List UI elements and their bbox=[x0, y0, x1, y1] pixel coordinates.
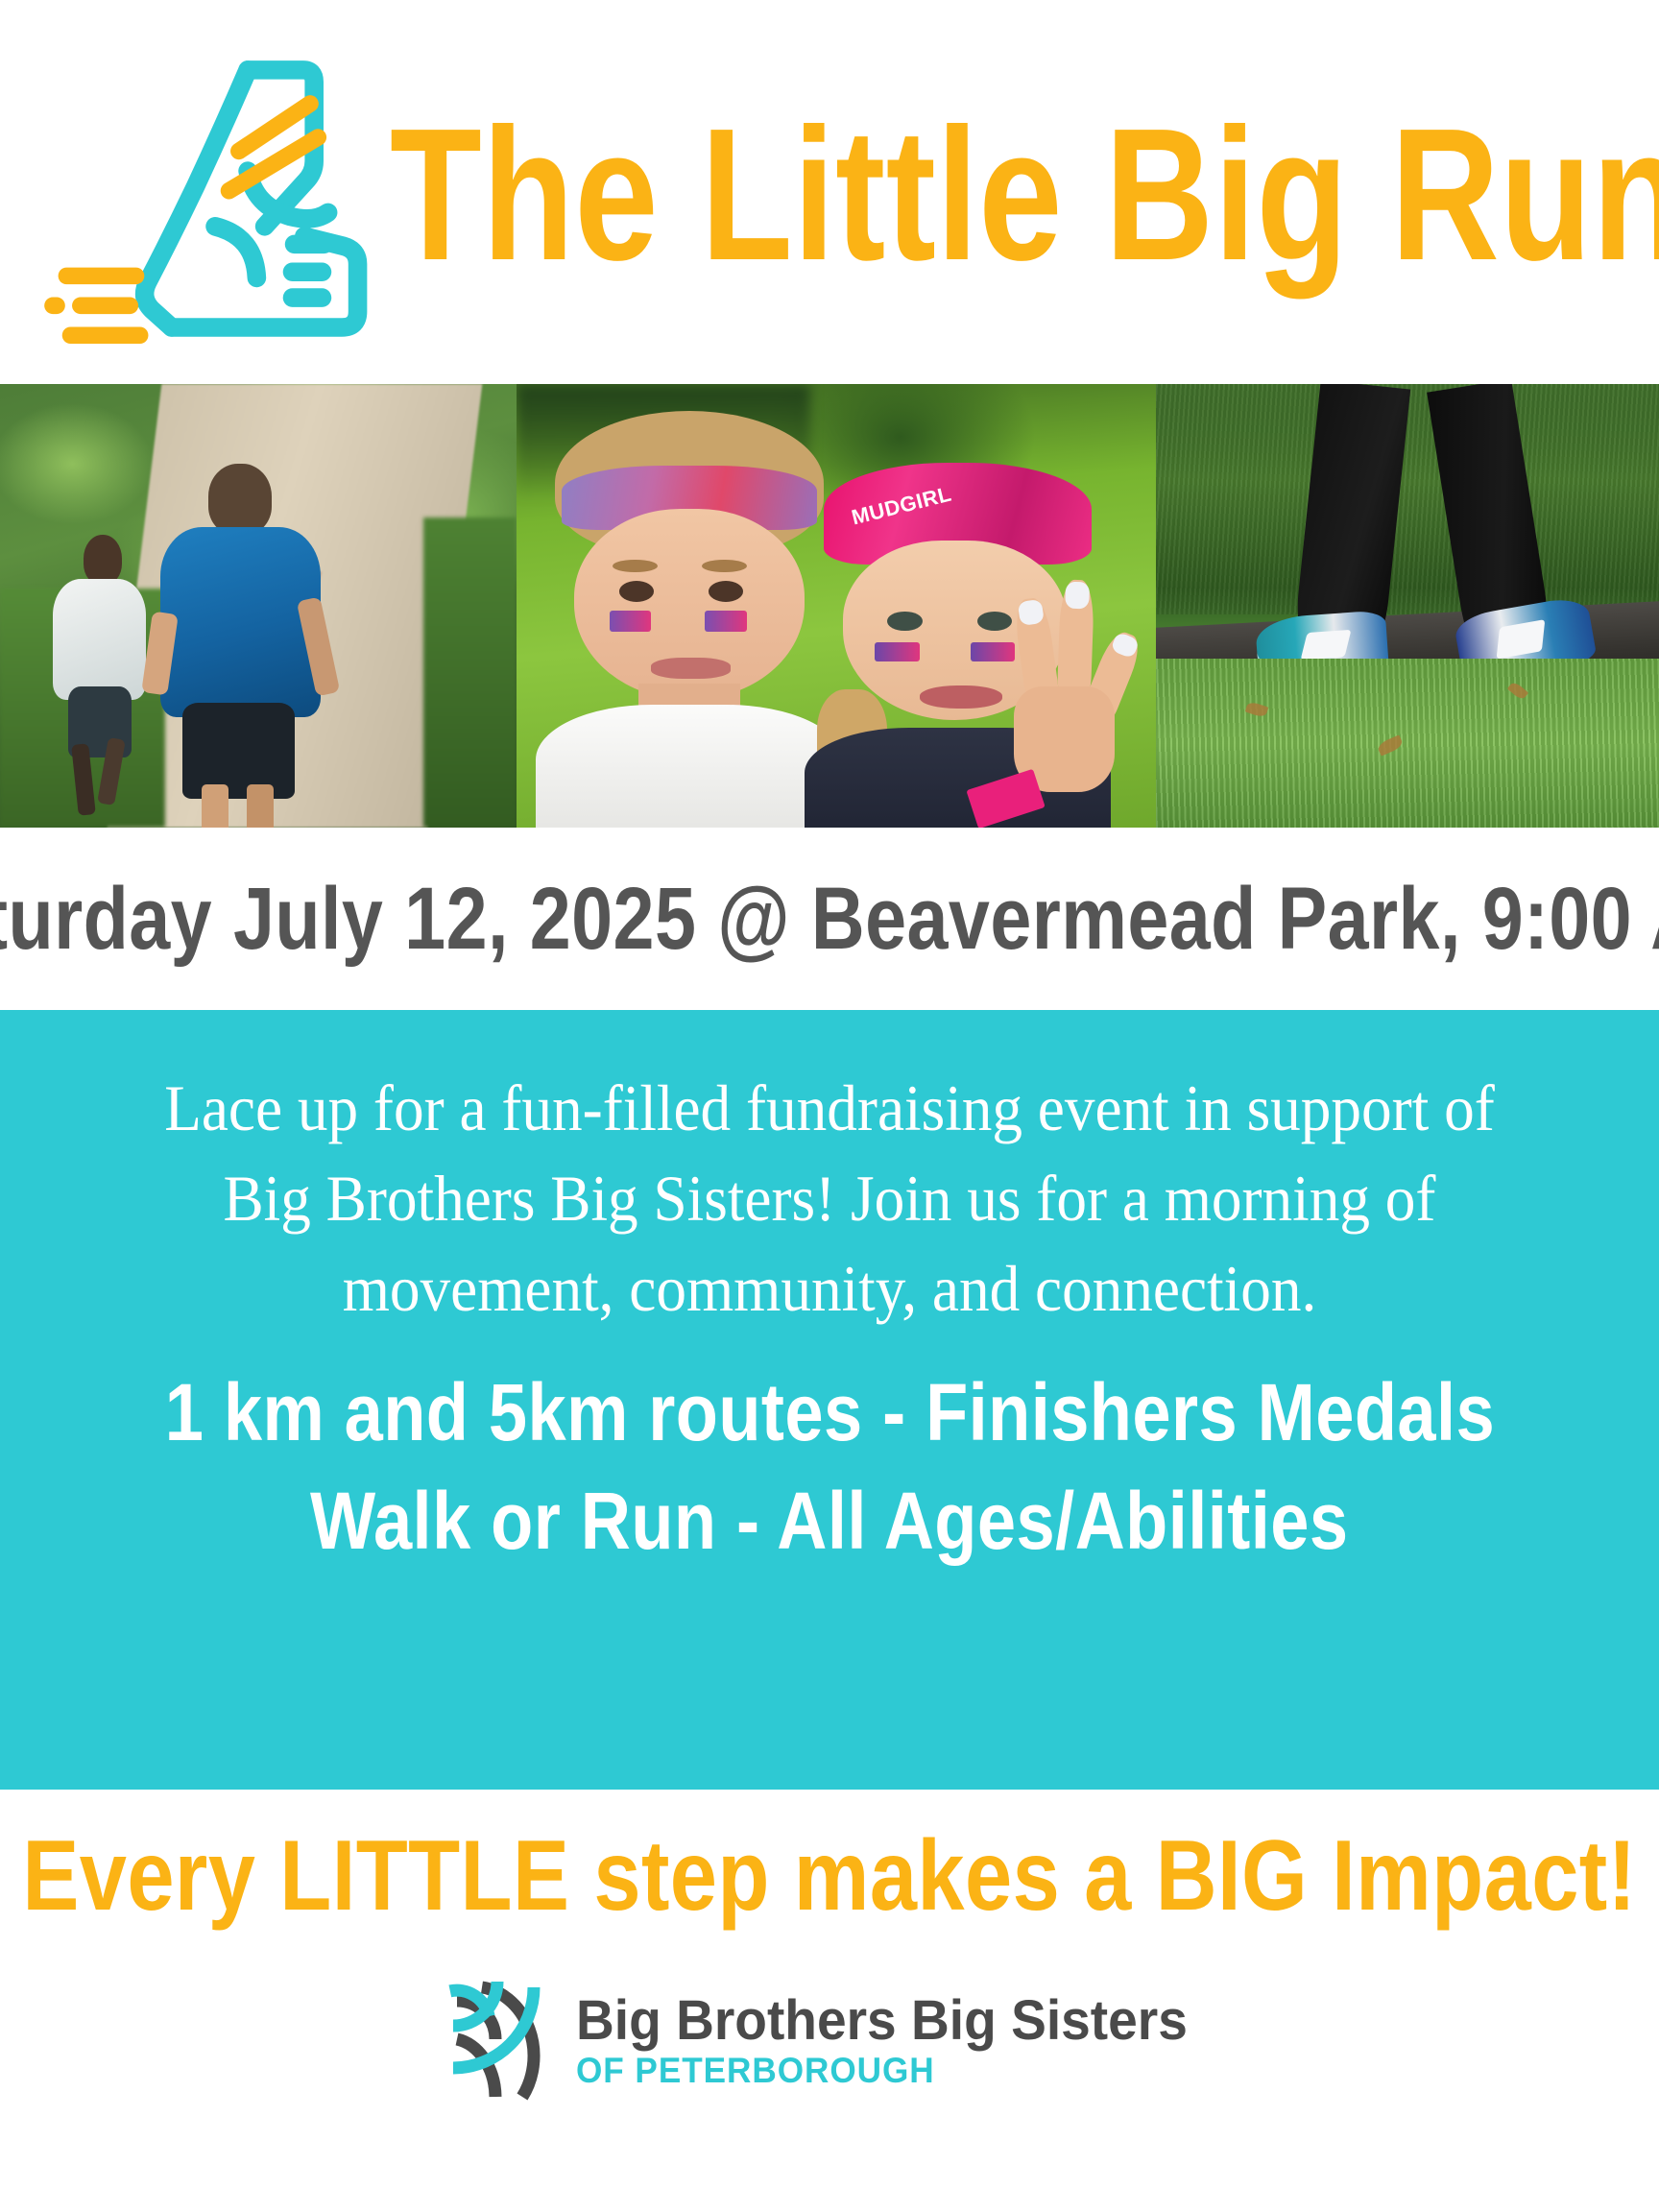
bbbs-org-name: Big Brothers Big Sisters bbox=[576, 1993, 1188, 2049]
photo-participants-headbands: MUDGIRL bbox=[517, 384, 1156, 828]
title-container: The Little Big Run bbox=[382, 108, 1659, 281]
running-shoe-icon bbox=[44, 42, 382, 359]
bbbs-org-location: OF PETERBOROUGH bbox=[576, 2053, 1188, 2088]
photo1-runner-blue-shirt bbox=[160, 464, 321, 828]
event-date-band: Saturday July 12, 2025 @ Beavermead Park… bbox=[0, 828, 1659, 1010]
page-title: The Little Big Run bbox=[390, 108, 1659, 281]
photo2-adult-participant bbox=[529, 411, 849, 828]
event-date-text: Saturday July 12, 2025 @ Beavermead Park… bbox=[0, 869, 1659, 970]
photo1-grass-right bbox=[423, 517, 517, 828]
photo2-headband-label: MUDGIRL bbox=[849, 481, 953, 530]
description-block: Lace up for a fun-filled fundraising eve… bbox=[0, 1010, 1659, 1790]
poster-canvas: The Little Big Run bbox=[0, 0, 1659, 2212]
bbbs-logo: Big Brothers Big Sisters OF PETERBOROUGH bbox=[440, 1980, 1219, 2101]
bbbs-arcs-logo-icon bbox=[440, 1980, 555, 2101]
photo1-runner-white-shirt bbox=[46, 535, 155, 809]
description-paragraph: Lace up for a fun-filled fundraising eve… bbox=[133, 1064, 1527, 1334]
walk-run-abilities-line: Walk or Run - All Ages/Abilities bbox=[310, 1467, 1348, 1575]
tagline-band: Every LITTLE step makes a BIG Impact! bbox=[0, 1790, 1659, 1962]
photo-strip: MUDGIRL bbox=[0, 384, 1659, 828]
footer: Big Brothers Big Sisters OF PETERBOROUGH bbox=[0, 1962, 1659, 2212]
poster-header: The Little Big Run bbox=[0, 0, 1659, 384]
photo2-peace-sign-hand bbox=[1002, 562, 1143, 792]
photo3-grass-lower bbox=[1156, 659, 1659, 828]
tagline-text: Every LITTLE step makes a BIG Impact! bbox=[22, 1819, 1636, 1934]
routes-medals-line: 1 km and 5km routes - Finishers Medals bbox=[164, 1358, 1494, 1467]
photo-kids-running bbox=[0, 384, 517, 828]
bbbs-wordmark: Big Brothers Big Sisters OF PETERBOROUGH bbox=[576, 1993, 1219, 2088]
photo-walking-shoes bbox=[1156, 384, 1659, 828]
